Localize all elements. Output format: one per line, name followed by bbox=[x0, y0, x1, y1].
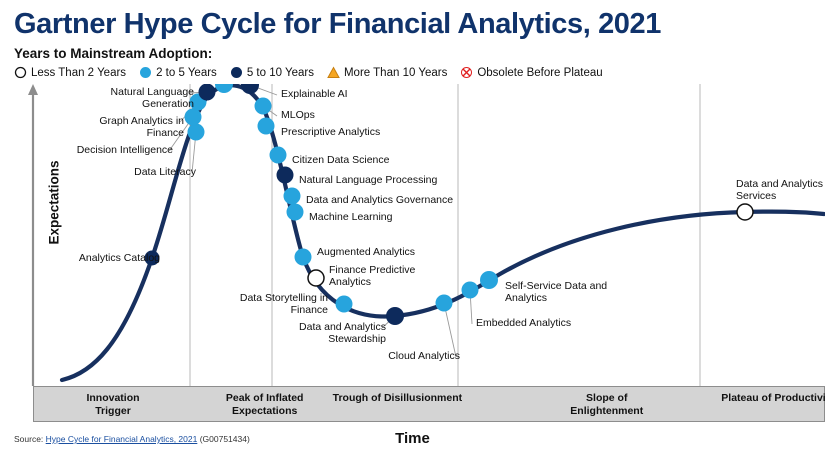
phase-label: Innovation Trigger bbox=[33, 392, 193, 418]
data-point-5-to-10-years[interactable] bbox=[386, 307, 404, 325]
data-point-label: Analytics Catalog bbox=[0, 252, 160, 264]
data-point-5-to-10-years[interactable] bbox=[199, 84, 216, 101]
data-point-2-to-5-years[interactable] bbox=[255, 98, 272, 115]
legend-item: Obsolete Before Plateau bbox=[460, 66, 602, 79]
data-point-label: Citizen Data Science bbox=[292, 154, 492, 166]
data-point-label: Data and Analytics Services bbox=[736, 178, 825, 203]
phase-bar: Innovation TriggerPeak of Inflated Expec… bbox=[33, 386, 825, 422]
data-point-2-to-5-years[interactable] bbox=[287, 204, 304, 221]
legend-item: 2 to 5 Years bbox=[139, 66, 217, 79]
phase-label: Slope of Enlightenment bbox=[527, 392, 687, 418]
data-point-label: Natural Language Generation bbox=[0, 86, 194, 111]
data-point-2-to-5-years[interactable] bbox=[270, 147, 287, 164]
obsolete-crossed-circle-icon bbox=[460, 66, 473, 79]
dark-blue-circle-icon bbox=[230, 66, 243, 79]
orange-triangle-icon bbox=[327, 66, 340, 79]
data-point-label: Data and Analytics Governance bbox=[306, 194, 506, 206]
data-point-label: Augmented Analytics bbox=[317, 246, 517, 258]
data-point-2-to-5-years[interactable] bbox=[336, 296, 353, 313]
data-point-label: Finance Predictive Analytics bbox=[329, 264, 529, 289]
data-point-2-to-5-years[interactable] bbox=[295, 249, 312, 266]
y-axis-label: Expectations bbox=[47, 143, 62, 263]
data-point-label: Natural Language Processing bbox=[299, 174, 499, 186]
source-id: (G00751434) bbox=[200, 434, 250, 444]
data-point-2-to-5-years[interactable] bbox=[185, 109, 202, 126]
legend-item-label: 2 to 5 Years bbox=[156, 67, 217, 79]
data-point-label: MLOps bbox=[281, 109, 481, 121]
legend: Less Than 2 Years2 to 5 Years5 to 10 Yea… bbox=[14, 66, 603, 79]
data-point-label: Data Literacy bbox=[0, 166, 196, 178]
data-point-2-to-5-years[interactable] bbox=[284, 188, 301, 205]
data-point-label: Explainable AI bbox=[281, 88, 481, 100]
source-prefix: Source: bbox=[14, 434, 43, 444]
data-point-2-to-5-years[interactable] bbox=[258, 118, 275, 135]
data-point-label: Data and Analytics Stewardship bbox=[190, 321, 386, 346]
source-note: Source: Hype Cycle for Financial Analyti… bbox=[14, 434, 250, 444]
data-point-label: Machine Learning bbox=[309, 211, 509, 223]
legend-item: More Than 10 Years bbox=[327, 66, 447, 79]
legend-item-label: Obsolete Before Plateau bbox=[477, 67, 602, 79]
phase-label: Plateau of Productivity bbox=[698, 392, 825, 405]
data-point-label: Embedded Analytics bbox=[476, 317, 676, 329]
data-point-less-than-2-years[interactable] bbox=[737, 204, 753, 220]
legend-heading: Years to Mainstream Adoption: bbox=[14, 46, 212, 61]
legend-item: 5 to 10 Years bbox=[230, 66, 314, 79]
data-point-label: Data Storytelling in Finance bbox=[132, 292, 328, 317]
source-link[interactable]: Hype Cycle for Financial Analytics, 2021 bbox=[46, 434, 198, 444]
data-point-label: Cloud Analytics bbox=[264, 350, 460, 362]
hollow-circle-icon bbox=[14, 66, 27, 79]
light-blue-circle-icon bbox=[139, 66, 152, 79]
phase-label: Trough of Disillusionment bbox=[317, 392, 477, 405]
data-point-5-to-10-years[interactable] bbox=[241, 84, 259, 94]
data-point-2-to-5-years[interactable] bbox=[188, 124, 205, 141]
data-point-label: Self-Service Data and Analytics bbox=[505, 280, 705, 305]
data-point-5-to-10-years[interactable] bbox=[277, 167, 294, 184]
legend-item-label: Less Than 2 Years bbox=[31, 67, 126, 79]
legend-item-label: More Than 10 Years bbox=[344, 67, 447, 79]
data-point-label: Decision Intelligence bbox=[0, 144, 173, 156]
legend-item: Less Than 2 Years bbox=[14, 66, 126, 79]
data-point-label: Prescriptive Analytics bbox=[281, 126, 481, 138]
page-title: Gartner Hype Cycle for Financial Analyti… bbox=[14, 8, 661, 41]
data-point-label: Graph Analytics in Finance bbox=[0, 115, 184, 140]
data-point-2-to-5-years[interactable] bbox=[436, 295, 453, 312]
hype-cycle-plot: Analytics CatalogData LiteracyDecision I… bbox=[0, 84, 825, 394]
data-point-less-than-2-years[interactable] bbox=[308, 270, 324, 286]
legend-item-label: 5 to 10 Years bbox=[247, 67, 314, 79]
data-point-2-to-5-years[interactable] bbox=[215, 84, 233, 93]
